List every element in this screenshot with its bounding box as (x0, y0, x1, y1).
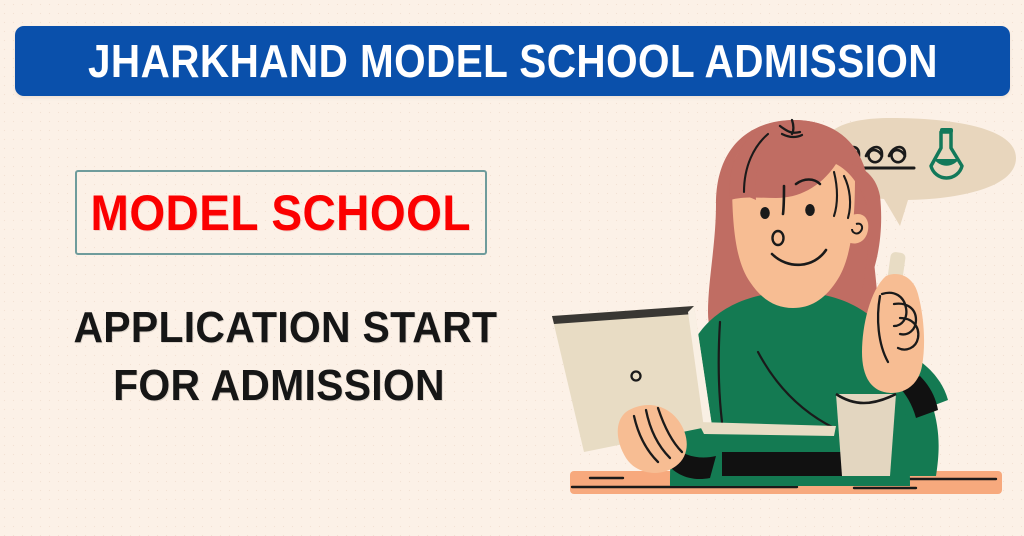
model-school-label: MODEL SCHOOL (91, 188, 471, 238)
left-text-column: MODEL SCHOOL APPLICATION START FOR ADMIS… (58, 170, 528, 415)
illustration-svg (548, 104, 1024, 536)
paper-cup (836, 394, 896, 476)
page-title: JHARKHAND MODEL SCHOOL ADMISSION (88, 38, 938, 84)
header-banner: JHARKHAND MODEL SCHOOL ADMISSION (15, 26, 1010, 96)
model-school-highlight-box: MODEL SCHOOL (75, 170, 487, 255)
poster-canvas: JHARKHAND MODEL SCHOOL ADMISSION MODEL S… (0, 0, 1024, 536)
subheading-block: APPLICATION START FOR ADMISSION (58, 299, 500, 415)
subheading-line-2: FOR ADMISSION (73, 357, 484, 415)
subheading-line-1: APPLICATION START (73, 299, 484, 357)
illustration-woman-with-laptop (548, 104, 1024, 536)
